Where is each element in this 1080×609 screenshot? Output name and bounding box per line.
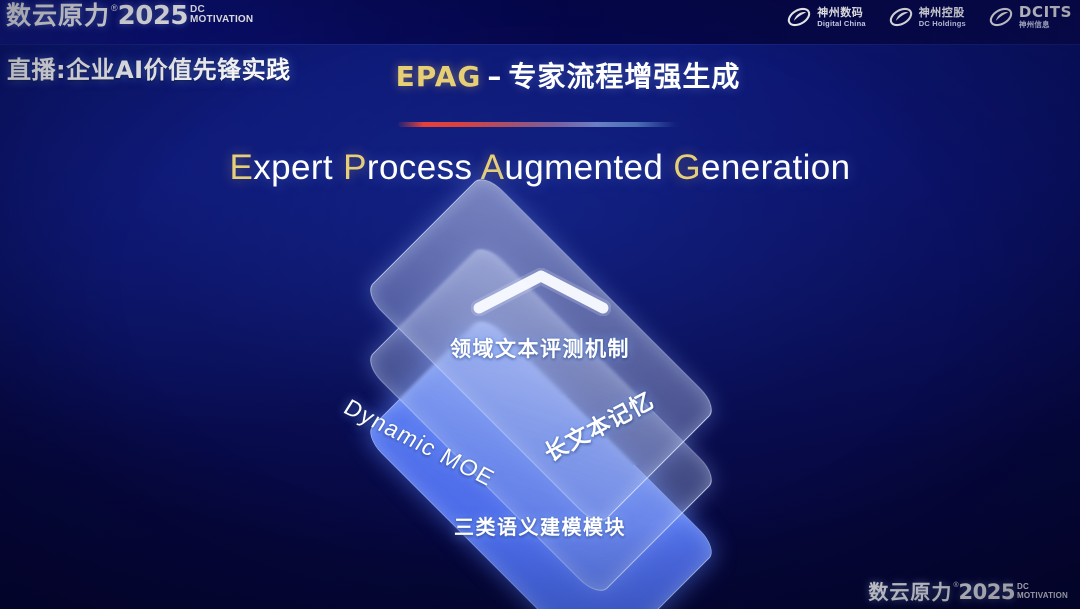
- footer-brand-tagline: DC MOTIVATION: [1017, 583, 1068, 600]
- logo-name-en: DCITS: [1019, 5, 1072, 20]
- title-divider: [398, 122, 682, 127]
- brand-tagline-dc: DC: [190, 5, 253, 14]
- brand-name-cn: 数云原力: [6, 2, 110, 30]
- layer-stack-diagram: 领域文本评测机制 Dynamic MOE 长文本记忆 三类语义建模模块: [290, 222, 790, 572]
- footer-brand-year: 2025: [959, 581, 1015, 603]
- logo-name-cn: 神州信息: [1019, 20, 1072, 29]
- slide-title: EPAG–专家流程增强生成: [0, 55, 1080, 95]
- brand-year: 2025: [118, 2, 188, 30]
- footer-brand-tagline-motivation: MOTIVATION: [1017, 591, 1068, 600]
- logo-name-en: DC Holdings: [919, 19, 966, 28]
- logo-name-cn: 神州控股: [919, 7, 966, 19]
- logo-dcits: DCITS 神州信息: [988, 4, 1072, 30]
- brand-tagline: DC MOTIVATION: [190, 5, 253, 25]
- logo-text: 神州控股 DC Holdings: [919, 7, 966, 28]
- logo-digital-china: 神州数码 Digital China: [786, 4, 865, 30]
- title-acronym: EPAG: [396, 60, 482, 93]
- logo-text: 神州数码 Digital China: [817, 7, 865, 28]
- subtitle-word-generation: Generation: [673, 148, 850, 187]
- brand-tagline-motivation: MOTIVATION: [190, 14, 253, 25]
- logo-name-en: Digital China: [817, 19, 865, 28]
- swoosh-icon: [988, 4, 1014, 30]
- corporate-logo-row: 神州数码 Digital China 神州控股 DC Holdings DCIT…: [786, 4, 1072, 30]
- title-chinese: 专家流程增强生成: [508, 60, 740, 93]
- swoosh-icon: [786, 4, 812, 30]
- subtitle-word-expert: Expert: [229, 148, 333, 187]
- presentation-slide: 数云原力 ® 2025 DC MOTIVATION 直播:企业AI价值先锋实践 …: [0, 0, 1080, 609]
- swoosh-icon: [888, 4, 914, 30]
- logo-name-cn: 神州数码: [817, 7, 865, 19]
- subtitle-word-augmented: Augmented: [481, 148, 664, 187]
- footer-brand-watermark: 数云原力 ® 2025 DC MOTIVATION: [868, 581, 1068, 603]
- footer-brand-name-cn: 数云原力: [868, 581, 952, 603]
- logo-text: DCITS 神州信息: [1019, 5, 1072, 29]
- brand-logo: 数云原力 ® 2025 DC MOTIVATION: [6, 2, 253, 32]
- subtitle-word-process: Process: [343, 148, 472, 187]
- slide-subtitle: Expert Process Augmented Generation: [0, 148, 1080, 188]
- logo-dc-holdings: 神州控股 DC Holdings: [888, 4, 966, 30]
- title-dash: –: [481, 60, 508, 93]
- registered-mark: ®: [111, 2, 118, 14]
- footer-brand-tagline-dc: DC: [1017, 583, 1068, 591]
